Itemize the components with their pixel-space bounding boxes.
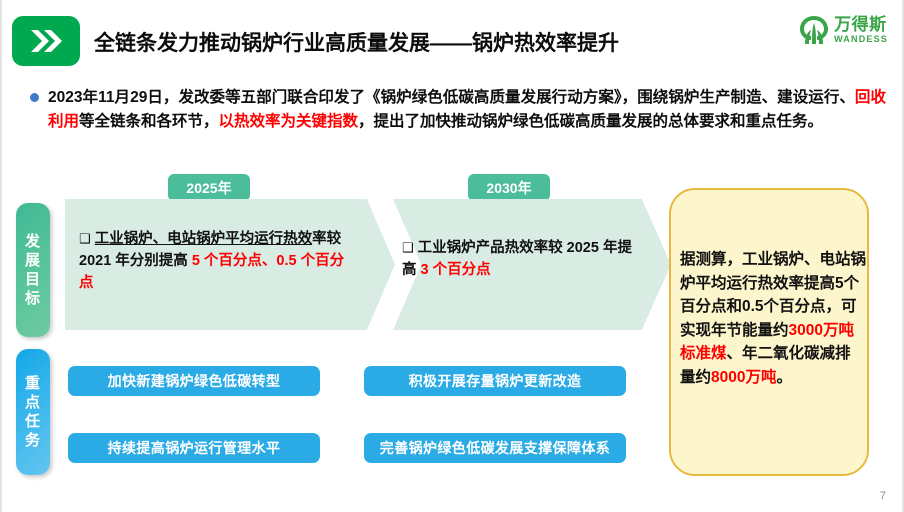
section-label-development-goal: 发展目标: [16, 203, 50, 337]
timeline-text-2030: ❑工业锅炉产品热效率较 2025 年提高 3 个百分点: [402, 238, 632, 282]
logo-name-cn: 万得斯: [834, 16, 888, 33]
intro-paragraph: 2023年11月29日，发改委等五部门联合印发了《锅炉绿色低碳高质量发展行动方案…: [30, 86, 886, 134]
brand-logo: 万得斯 WANDESS: [799, 14, 888, 46]
page-title: 全链条发力推动锅炉行业高质量发展——锅炉热效率提升: [94, 27, 619, 57]
wandess-plant-logo-icon: [799, 14, 829, 46]
page-number: 7: [880, 490, 886, 502]
hollow-square-bullet-icon: ❑: [79, 231, 91, 246]
year-badge-2025: 2025年: [168, 174, 250, 201]
bullet-dot-icon: [30, 93, 39, 102]
slide-header: 全链条发力推动锅炉行业高质量发展——锅炉热效率提升 万得斯 WANDESS: [2, 0, 904, 74]
year-badge-2030: 2030年: [468, 174, 550, 201]
slide-canvas: 全链条发力推动锅炉行业高质量发展——锅炉热效率提升 万得斯 WANDESS 20…: [0, 0, 904, 512]
task-pill-existing-boiler-upgrade[interactable]: 积极开展存量锅炉更新改造: [364, 366, 626, 396]
logo-name-en: WANDESS: [834, 35, 888, 44]
task-pill-operation-management[interactable]: 持续提高锅炉运行管理水平: [68, 433, 320, 463]
timeline-text-2030-content: 工业锅炉产品热效率较 2025 年提高 3 个百分点: [402, 240, 632, 278]
callout-text: 据测算，工业锅炉、电站锅炉平均运行热效率提高5个百分点和0.5个百分点，可实现年…: [680, 248, 866, 389]
timeline-text-2025: ❑工业锅炉、电站锅炉平均运行热效率较 2021 年分别提高 5 个百分点、0.5…: [79, 229, 347, 294]
double-chevron-right-icon: [12, 16, 80, 66]
timeline-text-2025-content: 工业锅炉、电站锅炉平均运行热效率较 2021 年分别提高 5 个百分点、0.5 …: [79, 231, 344, 291]
task-pill-new-boiler-transition[interactable]: 加快新建锅炉绿色低碳转型: [68, 366, 320, 396]
intro-text: 2023年11月29日，发改委等五部门联合印发了《锅炉绿色低碳高质量发展行动方案…: [48, 86, 886, 134]
task-pill-support-system[interactable]: 完善锅炉绿色低碳发展支撑保障体系: [364, 433, 626, 463]
hollow-square-bullet-icon: ❑: [402, 240, 414, 255]
section-label-key-tasks: 重点任务: [16, 349, 50, 475]
